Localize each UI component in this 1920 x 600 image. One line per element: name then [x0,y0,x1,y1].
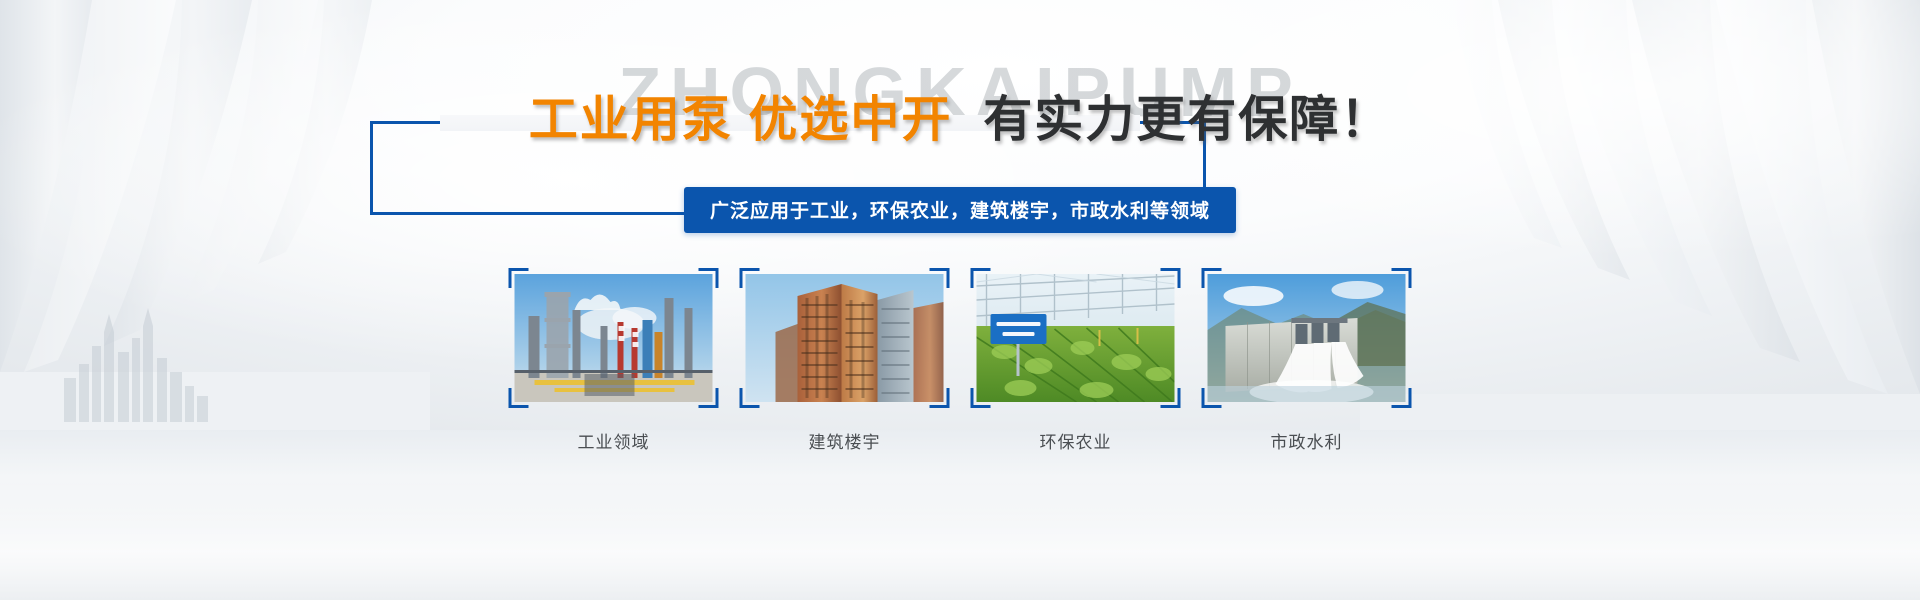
corner-bracket-bottom-right-icon [699,388,719,408]
corner-bracket-top-right-icon [930,268,950,288]
corner-bracket-top-right-icon [1161,268,1181,288]
corner-bracket-bottom-left-icon [509,388,529,408]
corner-bracket-bottom-right-icon [1161,388,1181,408]
corner-bracket-top-left-icon [971,268,991,288]
category-card-list: 工业领域 [509,268,1412,453]
category-card[interactable]: 建筑楼宇 [740,268,950,453]
corner-bracket-top-left-icon [1202,268,1222,288]
thumbnail-frame [971,268,1181,408]
thumbnail-frame [740,268,950,408]
corner-bracket-bottom-left-icon [1202,388,1222,408]
card-caption: 建筑楼宇 [740,428,950,453]
card-caption: 工业领域 [509,428,719,453]
industrial-plant-photo [515,274,713,402]
corner-bracket-top-right-icon [1392,268,1412,288]
subtitle-pill: 广泛应用于工业，环保农业，建筑楼宇，市政水利等领域 [684,187,1236,233]
dam-spillway-photo [1208,274,1406,402]
corner-bracket-bottom-right-icon [1392,388,1412,408]
city-skyline-silhouette [62,292,212,422]
thumbnail-frame [509,268,719,408]
headline-highlight: 工业用泵 优选中开 [529,93,953,147]
hero-banner: ZHONGKAIPUMP 工业用泵 优选中开 有实力更有保障！ 广泛应用于工业，… [0,0,1920,600]
corner-bracket-top-right-icon [699,268,719,288]
high-rise-buildings-photo [746,274,944,402]
corner-bracket-top-left-icon [740,268,760,288]
headline-rest: 有实力更有保障！ [983,93,1391,147]
card-caption: 市政水利 [1202,428,1412,453]
greenhouse-agriculture-photo [977,274,1175,402]
category-card[interactable]: 环保农业 [971,268,1181,453]
corner-bracket-bottom-left-icon [971,388,991,408]
category-card[interactable]: 市政水利 [1202,268,1412,453]
corner-bracket-bottom-left-icon [740,388,760,408]
card-caption: 环保农业 [971,428,1181,453]
floor-reflection [0,480,1920,600]
corner-bracket-top-left-icon [509,268,529,288]
category-card[interactable]: 工业领域 [509,268,719,453]
corner-bracket-bottom-right-icon [930,388,950,408]
thumbnail-frame [1202,268,1412,408]
headline: 工业用泵 优选中开 有实力更有保障！ [0,96,1920,145]
